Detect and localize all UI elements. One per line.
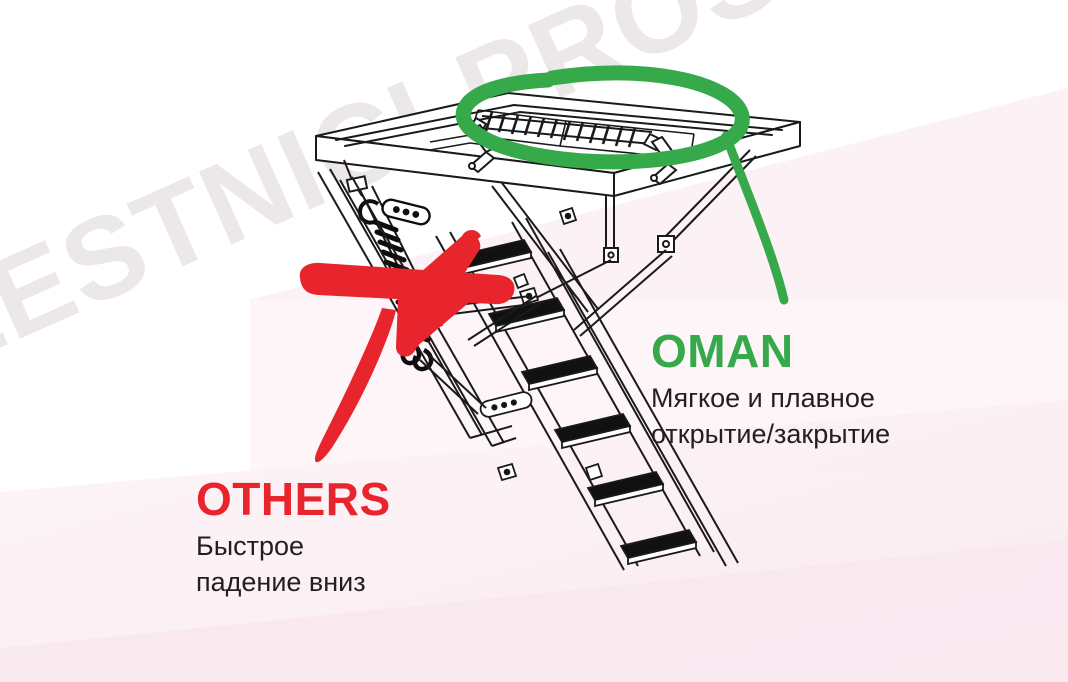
bg-band-lower	[0, 400, 1068, 682]
callout-others: OTHERS Быстрое падение вниз	[196, 476, 391, 600]
hatch-gas-spring	[470, 112, 662, 150]
watermark-text: LESTNICI-PROSTO.RU	[0, 0, 1068, 396]
hatch-lid-panel	[430, 110, 694, 159]
others-title: OTHERS	[196, 476, 391, 522]
callout-oman: OMAN Мягкое и плавное открытие/закрытие	[651, 328, 890, 452]
oman-line-1: Мягкое и плавное	[651, 380, 890, 416]
red-arrow-marker	[300, 230, 515, 462]
background-shapes	[0, 0, 1068, 682]
infographic-canvas: LESTNICI-PROSTO.RU	[0, 0, 1068, 682]
oman-title: OMAN	[651, 328, 890, 374]
bg-wedge-top-right	[248, 88, 1068, 300]
scissor-link-arms	[420, 296, 542, 414]
green-highlight-marker	[463, 73, 784, 300]
ladder-technical-drawing	[0, 0, 1068, 682]
support-struts	[344, 150, 756, 336]
oman-line-2: открытие/закрытие	[651, 416, 890, 452]
ladder-fittings	[479, 208, 602, 480]
bg-band-bottom	[0, 540, 1068, 682]
hatch-hinge-arms	[469, 125, 678, 184]
hatch-box	[316, 93, 800, 196]
others-line-1: Быстрое	[196, 528, 391, 564]
ladder-coil-spring	[360, 198, 431, 369]
others-line-2: падение вниз	[196, 564, 391, 600]
